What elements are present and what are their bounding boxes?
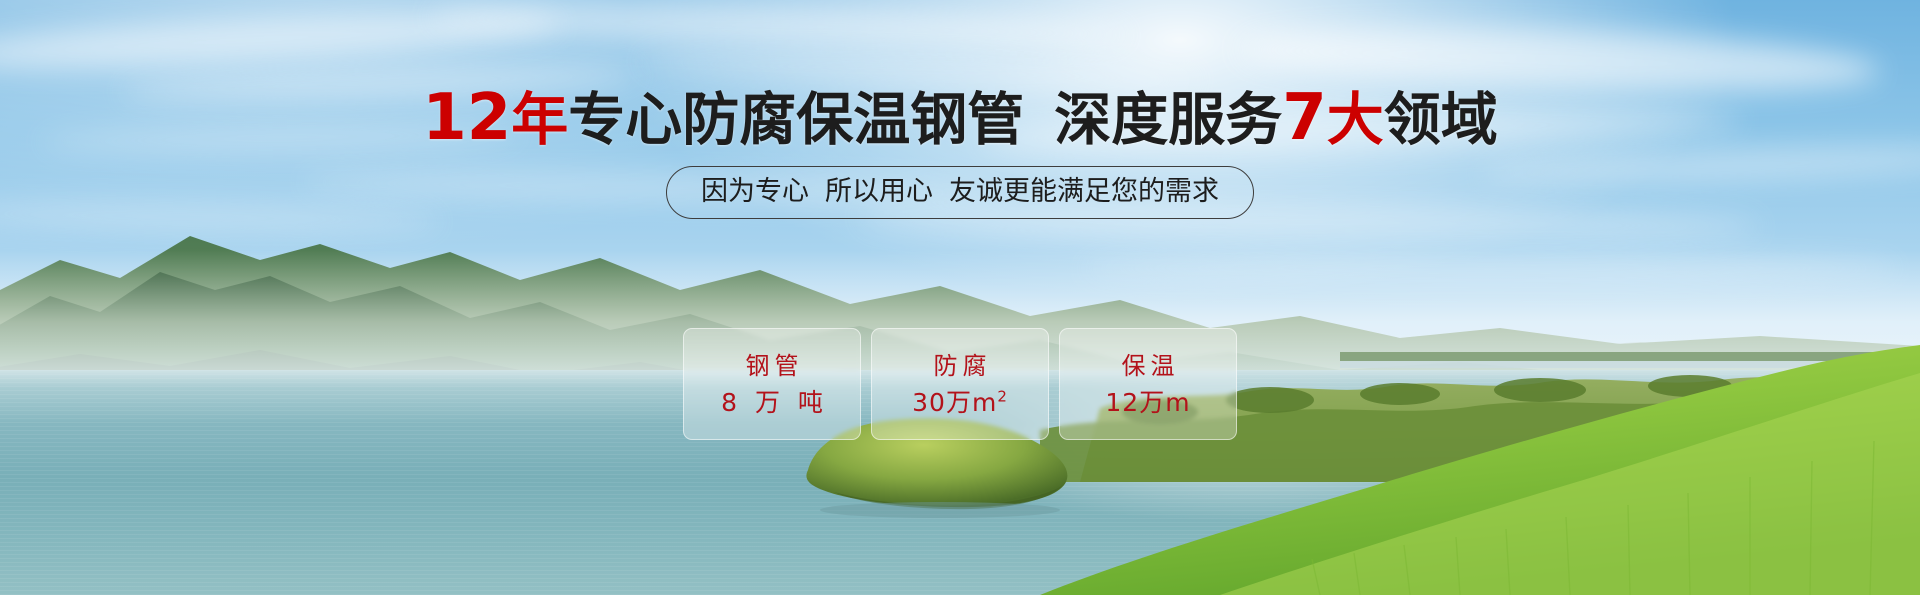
subtitle-badge: 因为专心所以用心友诚更能满足您的需求 (666, 166, 1254, 219)
headline-fields-number: 7 (1282, 81, 1327, 155)
subtitle-part-two: 所以用心 (825, 176, 933, 207)
hero-banner: 12年专心防腐保温钢管深度服务7大领域 因为专心所以用心友诚更能满足您的需求 钢… (0, 0, 1920, 595)
stat-card-value: 8 万 吨 (716, 390, 828, 415)
subtitle-part-three: 友诚更能满足您的需求 (949, 176, 1219, 207)
headline-years-unit: 年 (511, 87, 568, 153)
stat-card-value-text: 30万m (912, 388, 997, 417)
page-title: 12年专心防腐保温钢管深度服务7大领域 (0, 86, 1920, 150)
stat-card-title: 钢管 (741, 354, 804, 378)
subtitle-part-one: 因为专心 (701, 176, 809, 207)
stat-card-value: 30万m2 (912, 390, 1008, 415)
stat-card-title: 保温 (1117, 354, 1180, 378)
headline-segment-three: 领域 (1384, 87, 1498, 153)
stat-card-value-exponent: 2 (997, 387, 1008, 405)
stat-card-title: 防腐 (929, 354, 992, 378)
headline-segment-two: 深度服务 (1054, 87, 1282, 153)
stat-card-insulation[interactable]: 保温 12万m (1059, 328, 1237, 440)
stat-card-value-text: 8 万 吨 (721, 388, 828, 417)
stat-card-group: 钢管 8 万 吨 防腐 30万m2 保温 12万m (683, 328, 1237, 440)
stat-card-value: 12万m (1105, 390, 1190, 415)
stat-card-anticorrosion[interactable]: 防腐 30万m2 (871, 328, 1049, 440)
headline-fields-suffix: 大 (1327, 87, 1384, 153)
stat-card-value-text: 12万m (1105, 388, 1190, 417)
headline-segment-one: 专心防腐保温钢管 (568, 87, 1024, 153)
headline-years-number: 12 (422, 81, 511, 155)
stat-card-steel-pipe[interactable]: 钢管 8 万 吨 (683, 328, 861, 440)
banner-content: 12年专心防腐保温钢管深度服务7大领域 因为专心所以用心友诚更能满足您的需求 钢… (0, 0, 1920, 595)
